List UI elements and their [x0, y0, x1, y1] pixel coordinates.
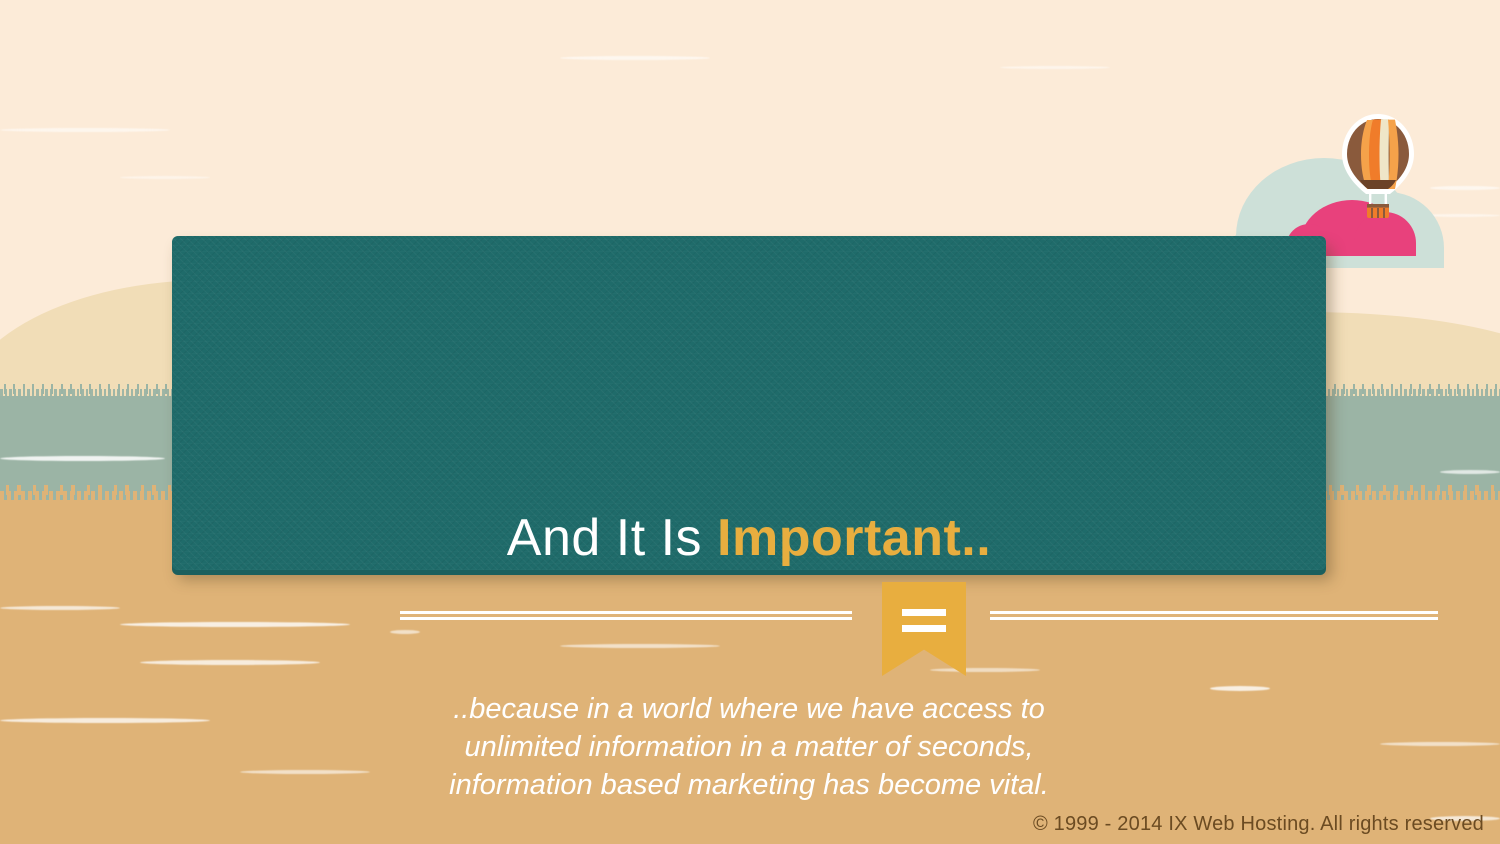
brush-stroke — [120, 176, 210, 179]
brush-stroke — [930, 668, 1040, 672]
brush-stroke — [240, 770, 370, 774]
brush-stroke — [0, 606, 120, 610]
copyright-notice: © 1999 - 2014 IX Web Hosting. All rights… — [1033, 813, 1484, 836]
brush-stroke — [560, 56, 710, 60]
equals-bar-top — [902, 609, 946, 616]
brush-stroke — [390, 630, 420, 634]
brush-stroke — [1000, 66, 1110, 69]
brush-stroke — [0, 456, 165, 461]
slide-canvas: And It Is Important.. ..because in a wor… — [0, 0, 1500, 844]
brush-stroke — [560, 644, 720, 648]
brush-stroke — [1210, 686, 1270, 691]
brush-stroke — [140, 660, 320, 665]
body-text: ..because in a world where we have acces… — [394, 690, 1104, 804]
hot-air-balloon-icon — [1336, 112, 1420, 224]
brush-stroke — [0, 128, 170, 132]
content-card: And It Is Important.. ..because in a wor… — [172, 236, 1326, 570]
divider-rule-left — [400, 611, 852, 620]
brush-stroke — [1380, 742, 1500, 746]
page-title-plain: And It Is — [507, 509, 717, 567]
page-title-accent: Important.. — [717, 509, 991, 567]
brush-stroke — [120, 622, 350, 627]
brush-stroke — [1430, 186, 1500, 190]
equals-bar-bottom — [902, 625, 946, 632]
brush-stroke — [1440, 470, 1500, 474]
page-title: And It Is Important.. — [172, 508, 1326, 568]
divider-rule-right — [990, 611, 1438, 620]
brush-stroke — [0, 718, 210, 723]
